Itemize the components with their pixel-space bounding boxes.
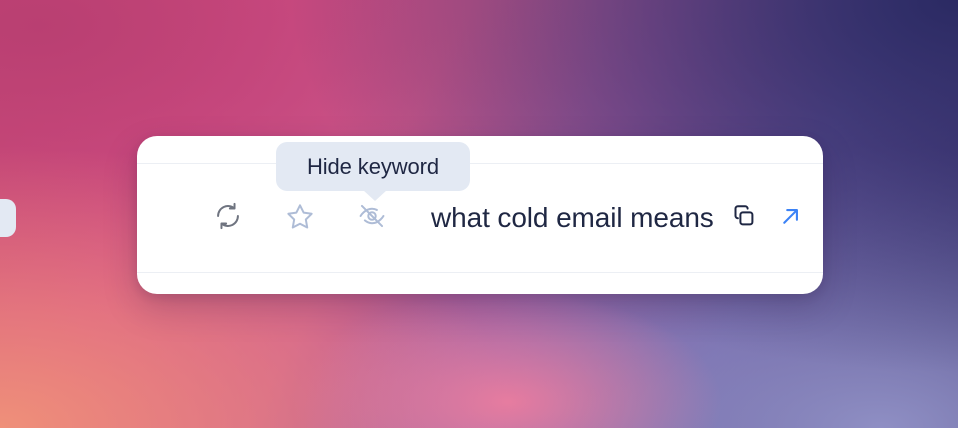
refresh-button[interactable]: [213, 203, 243, 233]
eye-off-icon: [358, 202, 386, 233]
copy-icon: [732, 204, 756, 231]
tooltip: Hide keyword: [276, 142, 470, 191]
favorite-button[interactable]: [285, 203, 315, 233]
card-divider-bottom: [137, 272, 823, 273]
tooltip-label: Hide keyword: [307, 154, 439, 180]
keyword-card: what cold email means: [137, 136, 823, 294]
arrow-up-right-icon: [779, 205, 802, 231]
keyword-row: what cold email means: [137, 163, 823, 272]
tooltip-arrow: [363, 190, 387, 201]
copy-button[interactable]: [731, 205, 757, 231]
open-link-button[interactable]: [779, 206, 803, 230]
star-icon: [286, 202, 314, 233]
clipped-pill-badge: [0, 199, 16, 237]
refresh-icon: [214, 202, 242, 233]
hide-keyword-button[interactable]: [357, 203, 387, 233]
keyword-label: what cold email means: [431, 204, 714, 232]
